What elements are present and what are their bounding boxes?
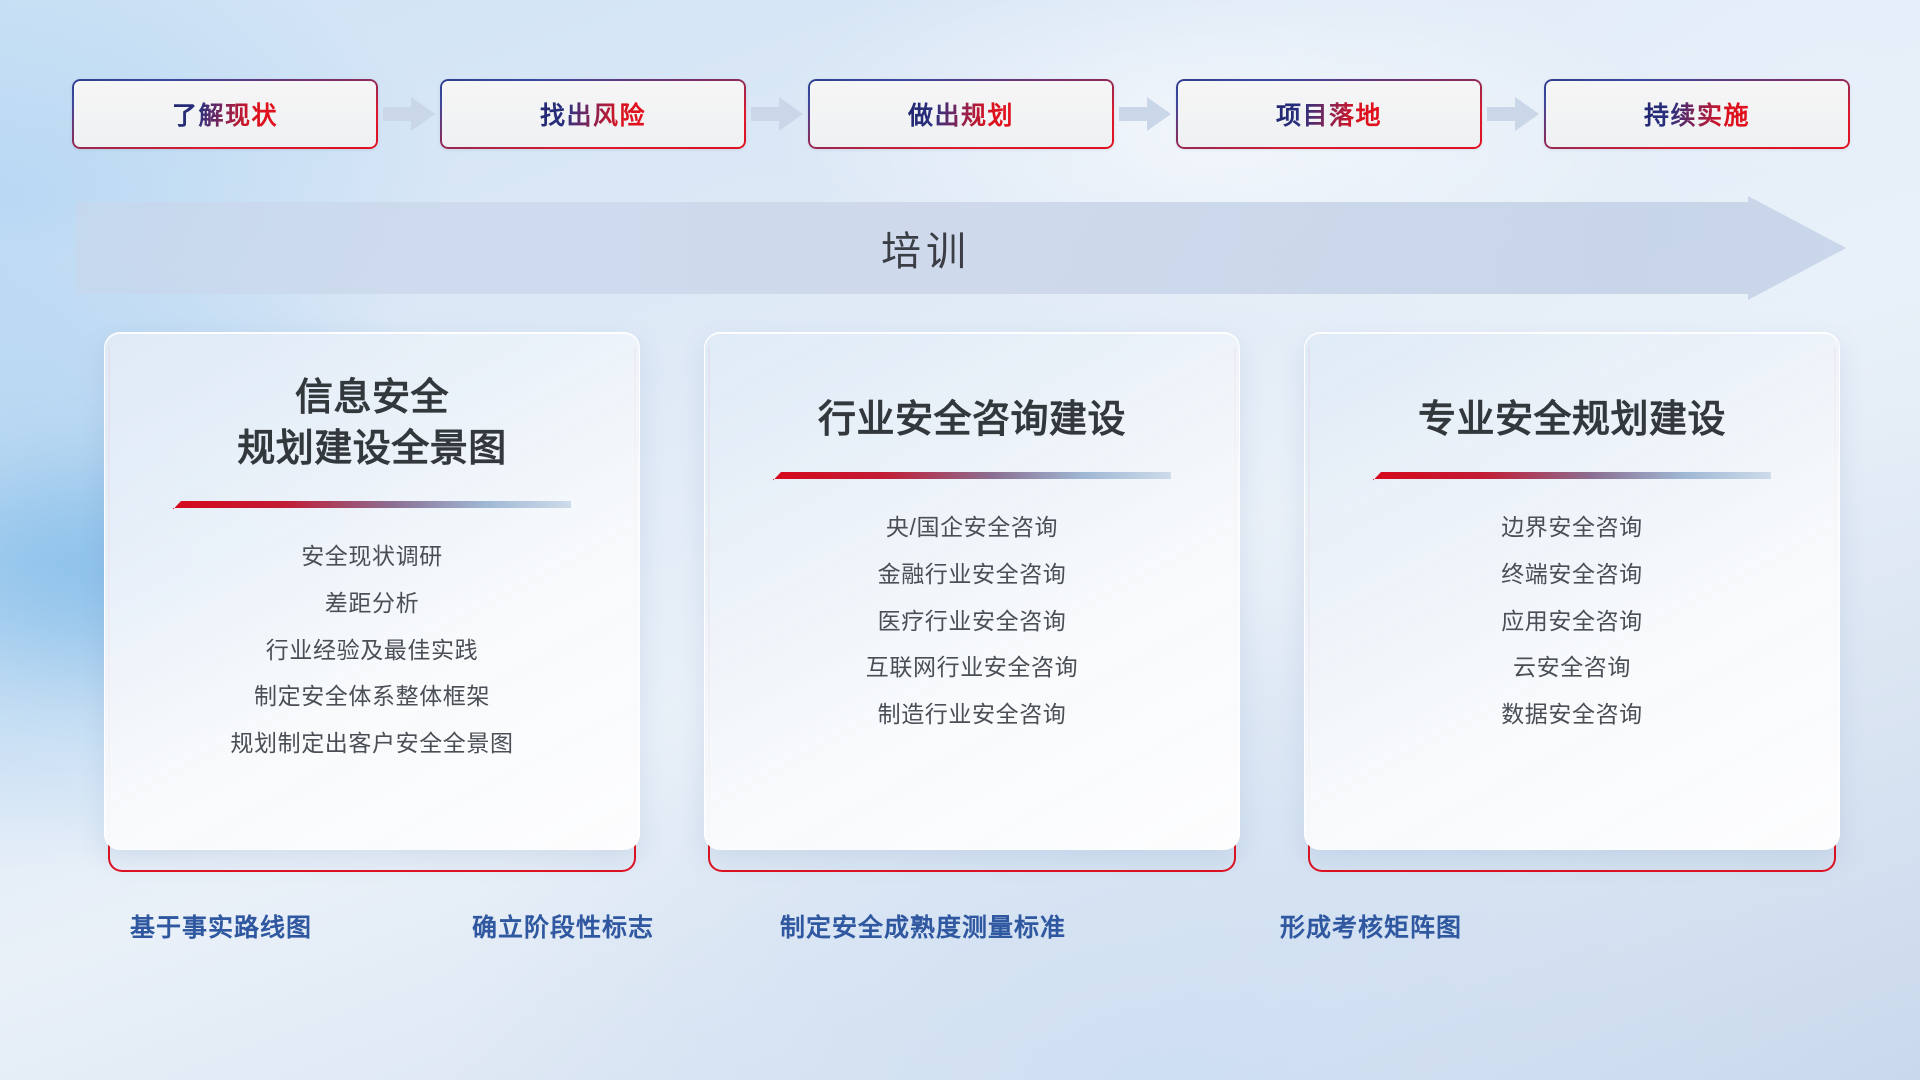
- bottom-label: 基于事实路线图: [130, 908, 312, 944]
- list-item: 制定安全体系整体框架: [254, 676, 490, 718]
- list-item: 应用安全咨询: [1501, 601, 1643, 643]
- list-item: 安全现状调研: [301, 536, 443, 578]
- card-title: 行业安全咨询建设: [796, 395, 1148, 446]
- card-title-line: 专业安全规划建设: [1418, 395, 1726, 446]
- right-arrow-icon: [1482, 92, 1544, 136]
- card-surface: 信息安全 规划建设全景图: [104, 332, 640, 850]
- card-3[interactable]: 专业安全规划建设: [1304, 332, 1840, 872]
- card-title-line: 行业安全咨询建设: [818, 395, 1126, 446]
- bottom-labels-row: 基于事实路线图 确立阶段性标志 制定安全成熟度测量标准 形成考核矩阵图: [104, 908, 1854, 960]
- list-item: 互联网行业安全咨询: [866, 647, 1078, 689]
- card-divider: [173, 501, 571, 510]
- process-step-label: 项目落地: [1276, 96, 1382, 132]
- list-item: 边界安全咨询: [1501, 507, 1643, 549]
- card-surface: 专业安全规划建设: [1304, 332, 1840, 850]
- list-item: 终端安全咨询: [1501, 554, 1643, 596]
- card-title: 信息安全 规划建设全景图: [215, 373, 529, 475]
- card-1[interactable]: 信息安全 规划建设全景图: [104, 332, 640, 872]
- card-title: 专业安全规划建设: [1396, 395, 1748, 446]
- bottom-label: 形成考核矩阵图: [1280, 908, 1462, 944]
- right-arrow-icon: [1114, 92, 1176, 136]
- process-step-5[interactable]: 持续实施: [1544, 79, 1850, 149]
- list-item: 数据安全咨询: [1501, 694, 1643, 736]
- card-list: 央/国企安全咨询 金融行业安全咨询 医疗行业安全咨询 互联网行业安全咨询 制造行…: [705, 507, 1239, 736]
- process-step-4[interactable]: 项目落地: [1176, 79, 1482, 149]
- list-item: 金融行业安全咨询: [878, 554, 1067, 596]
- card-title-line: 信息安全: [237, 373, 507, 424]
- list-item: 行业经验及最佳实践: [266, 630, 478, 672]
- card-2[interactable]: 行业安全咨询建设: [704, 332, 1240, 872]
- right-arrow-icon: [378, 92, 440, 136]
- list-item: 医疗行业安全咨询: [878, 601, 1067, 643]
- right-arrow-icon: [746, 92, 808, 136]
- training-banner-label: 培训: [76, 196, 1776, 300]
- bottom-label: 确立阶段性标志: [472, 908, 654, 944]
- list-item: 规划制定出客户安全全景图: [230, 723, 513, 765]
- cards-row: 信息安全 规划建设全景图: [104, 332, 1854, 872]
- bottom-label: 制定安全成熟度测量标准: [780, 908, 1066, 944]
- process-step-label: 做出规划: [908, 96, 1014, 132]
- card-title-line: 规划建设全景图: [237, 424, 507, 475]
- card-divider: [1373, 472, 1771, 481]
- process-step-1[interactable]: 了解现状: [72, 79, 378, 149]
- training-banner: 培训: [76, 196, 1846, 300]
- infographic-canvas: 了解现状 找出风险 做出规划 项目落地: [0, 0, 1920, 1080]
- list-item: 制造行业安全咨询: [878, 694, 1067, 736]
- list-item: 云安全咨询: [1513, 647, 1631, 689]
- card-divider: [773, 472, 1171, 481]
- process-step-3[interactable]: 做出规划: [808, 79, 1114, 149]
- process-step-label: 持续实施: [1644, 96, 1750, 132]
- process-step-label: 了解现状: [172, 96, 278, 132]
- card-list: 边界安全咨询 终端安全咨询 应用安全咨询 云安全咨询 数据安全咨询: [1305, 507, 1839, 736]
- list-item: 差距分析: [325, 583, 419, 625]
- list-item: 央/国企安全咨询: [886, 507, 1058, 549]
- card-list: 安全现状调研 差距分析 行业经验及最佳实践 制定安全体系整体框架 规划制定出客户…: [105, 536, 639, 765]
- process-flow: 了解现状 找出风险 做出规划 项目落地: [72, 78, 1852, 150]
- process-step-2[interactable]: 找出风险: [440, 79, 746, 149]
- process-step-label: 找出风险: [540, 96, 646, 132]
- card-surface: 行业安全咨询建设: [704, 332, 1240, 850]
